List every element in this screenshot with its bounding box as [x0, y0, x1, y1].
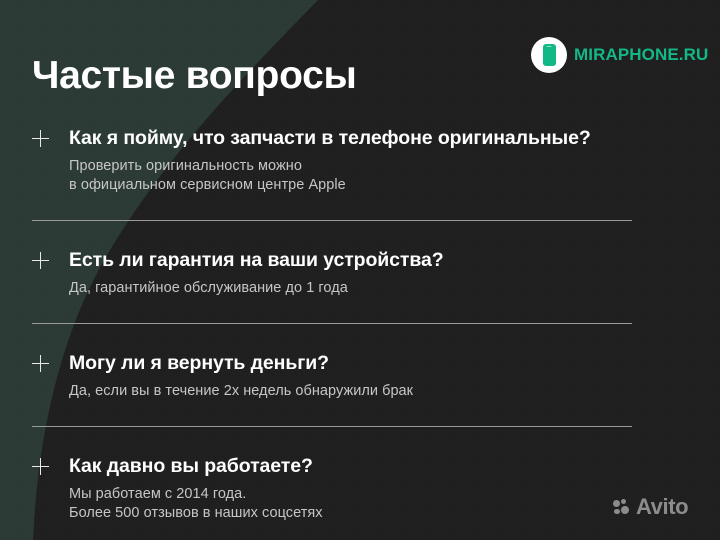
- page-title: Частые вопросы: [32, 52, 356, 100]
- plus-icon[interactable]: [32, 353, 49, 375]
- avito-watermark: Avito: [613, 494, 688, 520]
- faq-question: Как давно вы работаете?: [69, 454, 313, 478]
- avito-dots-icon: [613, 499, 632, 515]
- avito-label: Avito: [636, 494, 688, 520]
- faq-answer: Да, гарантийное обслуживание до 1 года: [69, 279, 632, 298]
- brand-name: MIRAPHONE.RU: [574, 45, 708, 65]
- faq-item[interactable]: Как давно вы работаете? Мы работаем с 20…: [32, 454, 632, 523]
- faq-item[interactable]: Могу ли я вернуть деньги? Да, если вы в …: [32, 351, 632, 401]
- brand-logo[interactable]: MIRAPHONE.RU: [531, 37, 708, 73]
- faq-answer: Мы работаем с 2014 года. Более 500 отзыв…: [69, 485, 632, 523]
- faq-question: Есть ли гарантия на ваши устройства?: [69, 248, 444, 272]
- plus-icon[interactable]: [32, 250, 49, 272]
- faq-answer: Да, если вы в течение 2х недель обнаружи…: [69, 382, 632, 401]
- faq-item-header[interactable]: Как я пойму, что запчасти в телефоне ори…: [32, 126, 632, 150]
- faq-slide: Частые вопросы MIRAPHONE.RU Как я пойму,…: [0, 0, 720, 540]
- faq-list: Как я пойму, что запчасти в телефоне ори…: [32, 126, 632, 540]
- phone-icon: [531, 37, 567, 73]
- faq-answer: Проверить оригинальность можно в официал…: [69, 157, 632, 195]
- faq-item-header[interactable]: Есть ли гарантия на ваши устройства?: [32, 248, 632, 272]
- faq-item[interactable]: Как я пойму, что запчасти в телефоне ори…: [32, 126, 632, 195]
- faq-item-header[interactable]: Как давно вы работаете?: [32, 454, 632, 478]
- slide-content: Частые вопросы MIRAPHONE.RU Как я пойму,…: [0, 0, 720, 540]
- faq-item-header[interactable]: Могу ли я вернуть деньги?: [32, 351, 632, 375]
- plus-icon[interactable]: [32, 128, 49, 150]
- plus-icon[interactable]: [32, 456, 49, 478]
- faq-question: Как я пойму, что запчасти в телефоне ори…: [69, 126, 591, 150]
- faq-item[interactable]: Есть ли гарантия на ваши устройства? Да,…: [32, 248, 632, 298]
- faq-question: Могу ли я вернуть деньги?: [69, 351, 329, 375]
